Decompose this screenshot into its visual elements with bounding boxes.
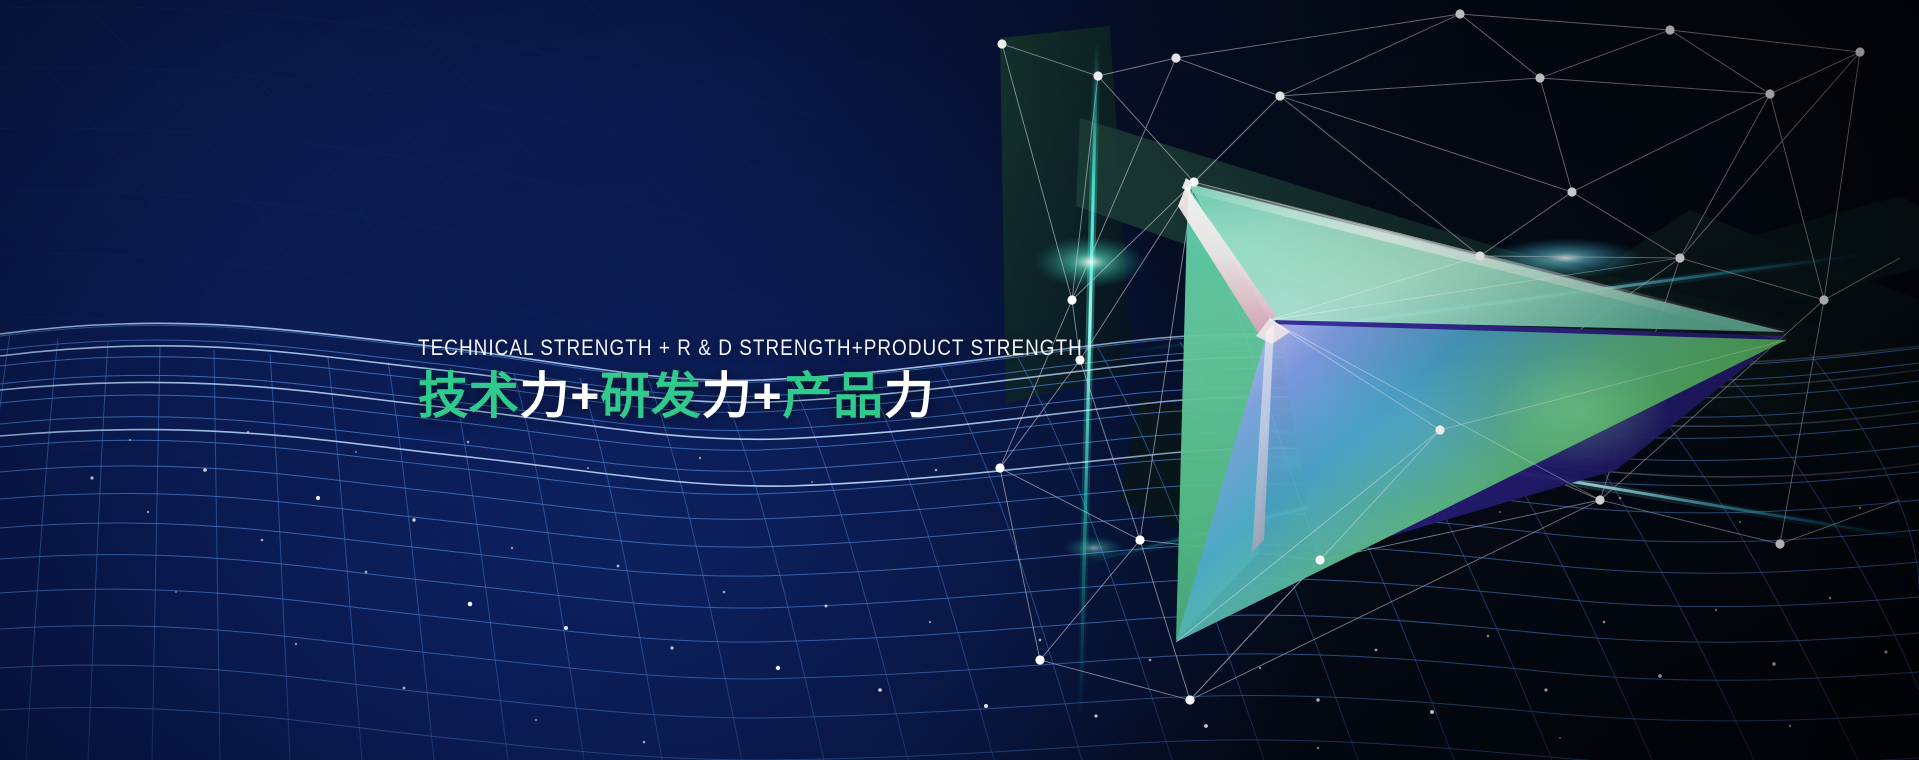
headline-segment-8: 力 xyxy=(884,368,935,424)
headline-segment-2: 力 xyxy=(520,368,571,424)
hero-text-block: TECHNICAL STRENGTH + R & D STRENGTH+PROD… xyxy=(418,336,1178,424)
headline-segment-7: 产品 xyxy=(782,368,884,424)
headline-segment-5: 力 xyxy=(702,368,753,424)
hero-banner: TECHNICAL STRENGTH + R & D STRENGTH+PROD… xyxy=(0,0,1919,760)
headline-segment-1: 技术 xyxy=(418,368,520,424)
headline-segment-6: + xyxy=(752,368,782,424)
hero-headline: 技术力+研发力+产品力 xyxy=(418,368,1178,424)
headline-segment-4: 研发 xyxy=(600,368,702,424)
hero-eyebrow: TECHNICAL STRENGTH + R & D STRENGTH+PROD… xyxy=(418,336,1072,360)
headline-segment-3: + xyxy=(570,368,600,424)
